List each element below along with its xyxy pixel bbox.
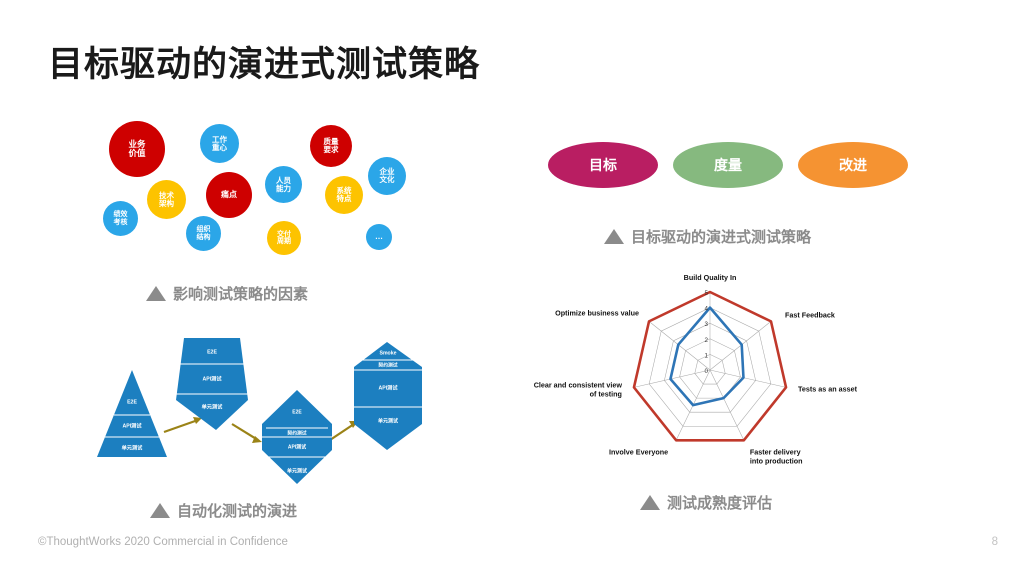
bubble-label: 交付周期 xyxy=(277,231,291,246)
bubble-7: 系统特点 xyxy=(325,176,363,214)
radar-spoke-3 xyxy=(710,370,744,440)
bubble-label: 系统特点 xyxy=(337,187,352,203)
bubble-label: 绩效考核 xyxy=(114,211,128,226)
test-shapes-svg: E2E API测试 单元测试 E2E API测试 单元测试 E2E 契约测 xyxy=(92,332,437,492)
radar-axis-label-6: Optimize business value xyxy=(555,308,639,317)
radar-caption-text: 测试成熟度评估 xyxy=(667,492,772,513)
footer-copyright: ©ThoughtWorks 2020 Commercial in Confide… xyxy=(38,536,288,548)
bubble-label: 企业文化 xyxy=(380,168,395,184)
radar-axis-label-2: Tests as an asset xyxy=(798,384,858,393)
bubble-label: 组织结构 xyxy=(197,226,211,241)
pentagon-layer-2: 单元测试 xyxy=(202,402,224,410)
goal-pill-1[interactable]: 度量 xyxy=(673,142,783,188)
pyramid-layer-0: E2E xyxy=(127,399,137,405)
bubble-label: 人员能力 xyxy=(276,177,291,193)
radar-tick-3: 3 xyxy=(705,321,709,328)
goal-pill-label: 改进 xyxy=(839,155,867,175)
page-title: 目标驱动的演进式测试策略 xyxy=(48,36,480,87)
radar-svg: 543210Build Quality InFast FeedbackTests… xyxy=(548,262,888,492)
radar-axis-label-1: Fast Feedback xyxy=(785,310,835,319)
bubble-3: 企业文化 xyxy=(368,157,406,195)
bubble-10: 交付周期 xyxy=(267,221,301,255)
pyramid-layer-2: 单元测试 xyxy=(122,443,144,451)
bubble-label: 痛点 xyxy=(221,191,237,199)
shape-pentagon: E2E API测试 单元测试 xyxy=(176,338,248,430)
octagon-layer-3: 单元测试 xyxy=(378,417,398,424)
hexagon-layer-3: 单元测试 xyxy=(287,467,307,474)
bubble-8: 绩效考核 xyxy=(103,201,138,236)
hexagon-layer-1: 契约测试 xyxy=(286,429,306,436)
bubble-label: … xyxy=(375,233,383,241)
octagon-body xyxy=(354,342,422,450)
test-evolution-caption-text: 自动化测试的演进 xyxy=(177,500,297,521)
arrow-1 xyxy=(164,420,198,432)
triangle-bullet-icon xyxy=(640,495,660,510)
radar-tick-4: 4 xyxy=(705,306,709,313)
pyramid-body xyxy=(97,370,167,457)
goal-pill-label: 度量 xyxy=(714,155,742,175)
radar-tick-1: 1 xyxy=(705,352,709,359)
shape-hexagon: E2E 契约测试 API测试 单元测试 xyxy=(262,390,332,484)
triangle-bullet-icon xyxy=(146,286,166,301)
goal-pill-2[interactable]: 改进 xyxy=(798,142,908,188)
influence-factors-bubble-chart: 业务价值工作重心质量要求企业文化技术架构痛点人员能力系统特点绩效考核组织结构交付… xyxy=(95,112,435,277)
bubble-label: 技术架构 xyxy=(159,192,174,208)
radar-tick-2: 2 xyxy=(705,337,709,344)
shape-pyramid: E2E API测试 单元测试 xyxy=(97,370,167,457)
goal-section-caption: 目标驱动的演进式测试策略 xyxy=(604,226,811,247)
bubble-0: 业务价值 xyxy=(109,121,165,177)
radar-tick-5: 5 xyxy=(705,290,709,297)
shape-octagon: Smoke 契约测试 API测试 单元测试 xyxy=(354,342,422,450)
goal-pill-label: 目标 xyxy=(589,155,617,175)
triangle-bullet-icon xyxy=(150,503,170,518)
radar-axis-label-0: Build Quality In xyxy=(684,273,737,282)
radar-axis-label-3: Faster deliveryinto production xyxy=(750,447,803,465)
bubble-2: 质量要求 xyxy=(310,125,352,167)
pentagon-layer-0: E2E xyxy=(207,349,217,355)
octagon-layer-1: 契约测试 xyxy=(377,361,397,368)
pyramid-layer-1: API测试 xyxy=(122,421,142,429)
radar-tick-labels: 543210 xyxy=(705,290,709,375)
bubble-11: … xyxy=(366,224,392,250)
octagon-layer-0: Smoke xyxy=(379,350,396,356)
bubble-cluster-caption: 影响测试策略的因素 xyxy=(146,283,308,304)
test-evolution-caption: 自动化测试的演进 xyxy=(150,500,297,521)
bubble-cluster-caption-text: 影响测试策略的因素 xyxy=(173,283,308,304)
radar-axis-label-4: Involve Everyone xyxy=(609,447,668,456)
octagon-layer-2: API测试 xyxy=(378,383,398,391)
slide: 目标驱动的演进式测试策略 业务价值工作重心质量要求企业文化技术架构痛点人员能力系… xyxy=(0,0,1024,576)
bubble-label: 质量要求 xyxy=(324,138,339,154)
bubble-5: 痛点 xyxy=(206,172,252,218)
test-automation-evolution-diagram: E2E API测试 单元测试 E2E API测试 单元测试 E2E 契约测 xyxy=(92,332,437,492)
goal-section-caption-text: 目标驱动的演进式测试策略 xyxy=(631,226,811,247)
bubble-6: 人员能力 xyxy=(265,166,302,203)
bubble-4: 技术架构 xyxy=(147,180,186,219)
page-number: 8 xyxy=(992,536,998,548)
hexagon-layer-0: E2E xyxy=(292,409,302,415)
test-maturity-radar-chart: 543210Build Quality InFast FeedbackTests… xyxy=(548,262,888,492)
goal-pill-0[interactable]: 目标 xyxy=(548,142,658,188)
bubble-9: 组织结构 xyxy=(186,216,221,251)
bubble-label: 业务价值 xyxy=(128,140,145,158)
pentagon-layer-1: API测试 xyxy=(202,374,222,382)
bubble-1: 工作重心 xyxy=(200,124,239,163)
goal-measure-improve-pills: 目标度量改进 xyxy=(548,140,908,195)
arrow-2 xyxy=(232,424,258,440)
radar-tick-0: 0 xyxy=(705,368,709,375)
radar-axis-label-5: Clear and consistent viewof testing xyxy=(534,380,623,398)
bubble-label: 工作重心 xyxy=(212,136,227,152)
triangle-bullet-icon xyxy=(604,229,624,244)
radar-caption: 测试成熟度评估 xyxy=(640,492,772,513)
hexagon-layer-2: API测试 xyxy=(288,443,306,450)
